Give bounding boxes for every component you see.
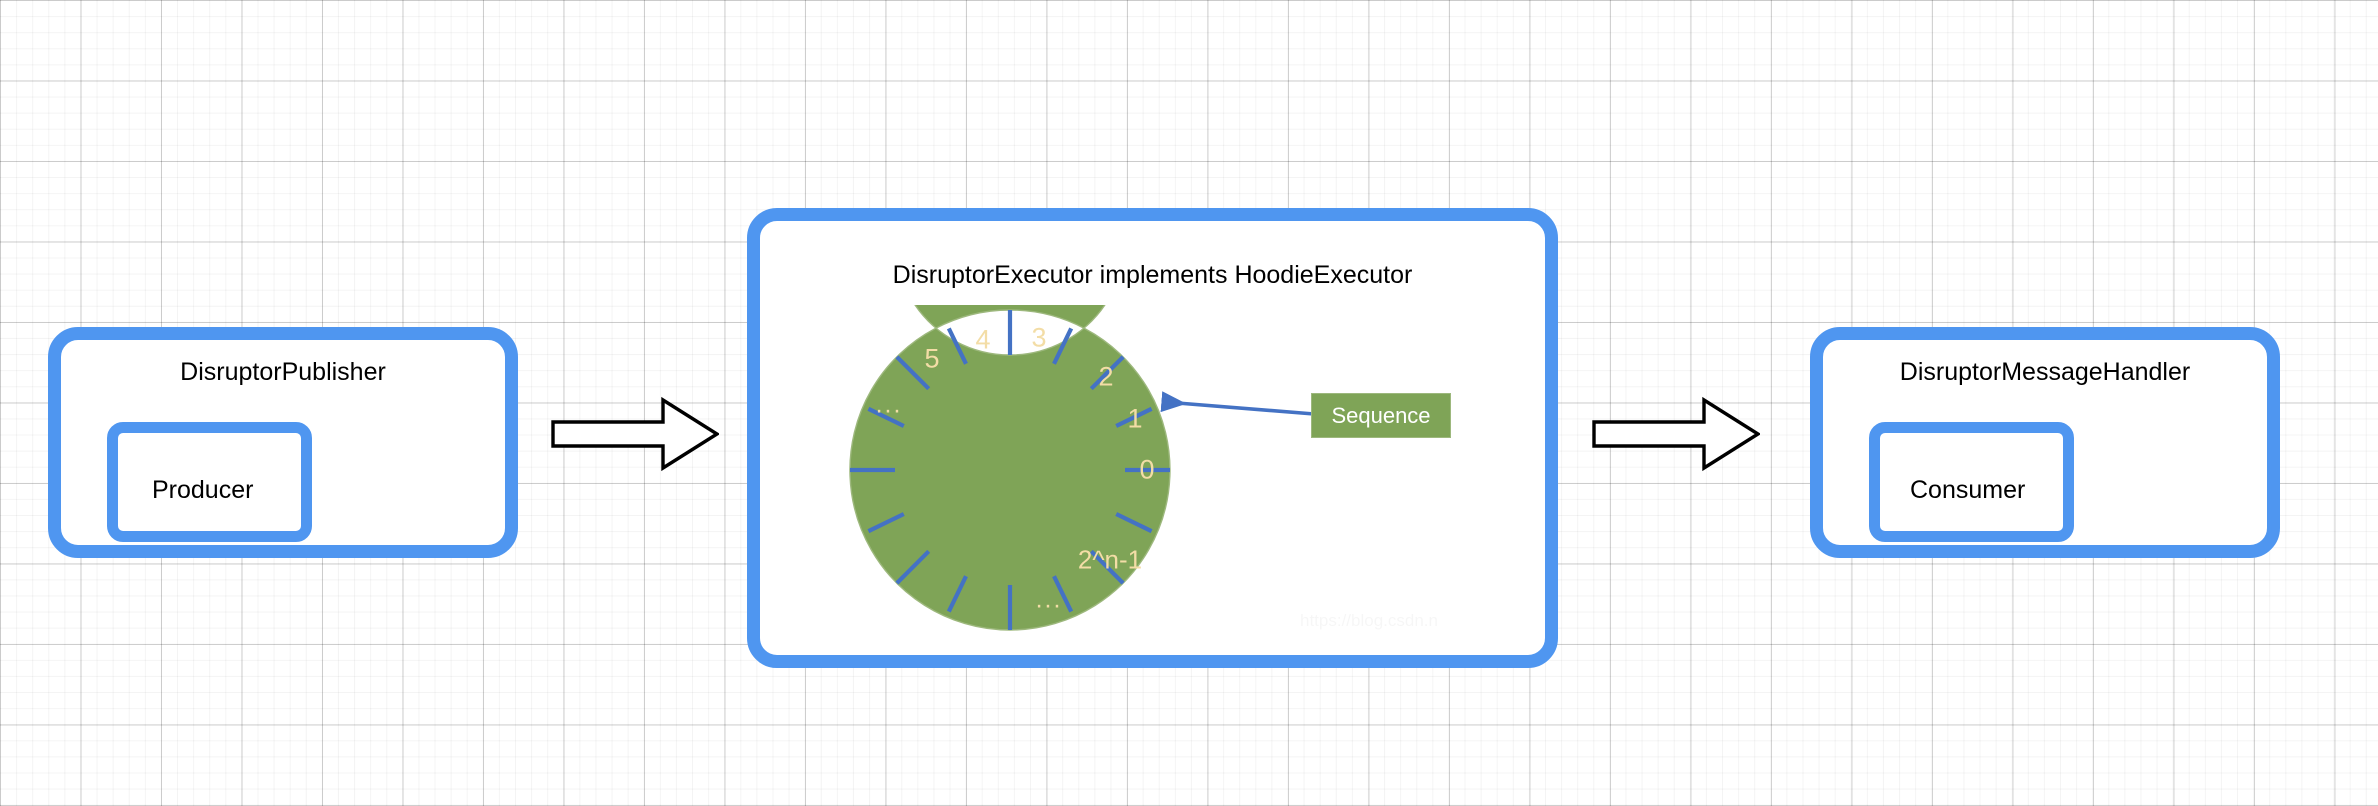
consumer-box[interactable]: Consumer [1869,422,2074,542]
watermark-text: https://blog.csdn.n [1300,611,1438,631]
disruptor-message-handler-title: DisruptorMessageHandler [1823,357,2267,387]
ring-label-3: 3 [1031,325,1046,352]
ring-label-1: 1 [1127,406,1142,433]
arrow-executor-to-handler [1592,396,1760,472]
ring-label-max: 2^n-1 [1078,547,1142,574]
sequence-node[interactable]: Sequence [1311,393,1451,438]
ring-label-upper-ellipsis: ... [876,392,903,419]
ring-buffer-graphic [845,305,1175,635]
disruptor-publisher-box[interactable]: DisruptorPublisher Producer [48,327,518,558]
producer-label: Producer [152,475,253,505]
ring-label-5: 5 [924,346,939,373]
disruptor-publisher-title: DisruptorPublisher [61,357,505,387]
disruptor-message-handler-box[interactable]: DisruptorMessageHandler Consumer [1810,327,2280,558]
left-arrow-icon [1157,389,1317,429]
sequence-node-label: Sequence [1331,403,1430,429]
block-arrow-icon [1592,396,1760,472]
arrow-publisher-to-executor [551,396,719,472]
disruptor-executor-title: DisruptorExecutor implements HoodieExecu… [760,260,1545,290]
ring-label-2: 2 [1098,364,1113,391]
ring-label-0: 0 [1139,457,1154,484]
ring-label-4: 4 [975,327,990,354]
disruptor-executor-box[interactable]: DisruptorExecutor implements HoodieExecu… [747,208,1558,668]
sequence-pointer-arrow [1157,389,1317,429]
block-arrow-icon [551,396,719,472]
diagram-canvas: DisruptorPublisher Producer DisruptorExe… [0,0,2378,806]
consumer-label: Consumer [1910,475,2025,505]
ring-label-lower-ellipsis: ... [1036,587,1063,614]
producer-box[interactable]: Producer [107,422,312,542]
ring-buffer: 0 1 2 3 4 5 ... 2^n-1 ... [845,305,1175,635]
